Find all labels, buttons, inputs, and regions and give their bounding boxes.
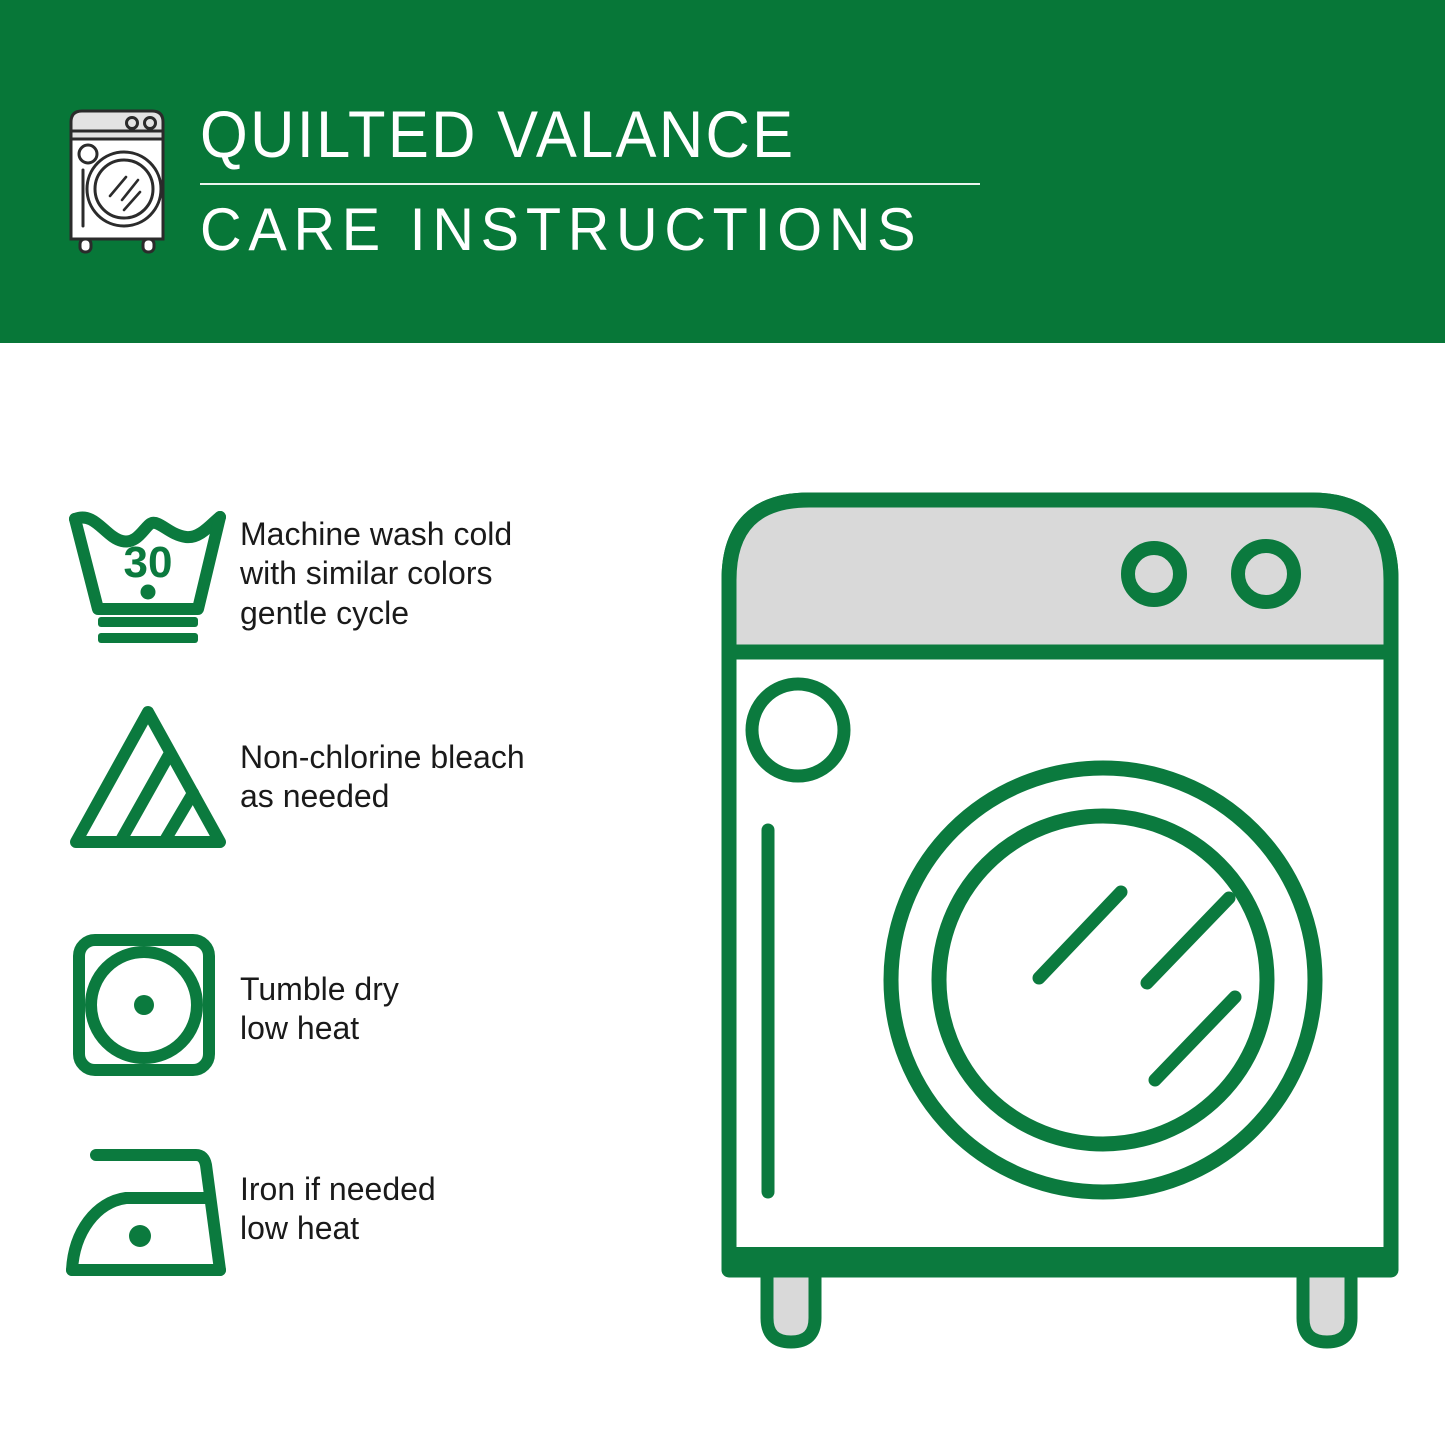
front-load-washing-machine-illustration [715, 480, 1405, 1370]
care-instruction-text: Iron if needed low heat [240, 1140, 680, 1249]
tumble-dry-icon [60, 928, 240, 1078]
bleach-triangle-icon [60, 700, 240, 850]
page-subtitle: CARE INSTRUCTIONS [200, 198, 958, 261]
title-divider [200, 183, 980, 185]
iron-icon [60, 1140, 240, 1290]
care-instructions-page: QUILTED VALANCE CARE INSTRUCTIONS 30 [0, 0, 1445, 1445]
wash-temperature-label: 30 [124, 538, 173, 587]
header-text-block: QUILTED VALANCE CARE INSTRUCTIONS [200, 100, 990, 261]
care-instruction-text: Non-chlorine bleach as needed [240, 700, 680, 817]
care-instruction-row: Tumble dry low heat [60, 928, 680, 1078]
care-instruction-text: Tumble dry low heat [240, 928, 680, 1049]
care-instruction-row: Iron if needed low heat [60, 1140, 680, 1290]
washing-machine-icon [62, 104, 180, 256]
wash-tub-30-icon: 30 [60, 497, 240, 647]
care-instruction-row: Non-chlorine bleach as needed [60, 700, 680, 850]
care-instruction-text: Machine wash cold with similar colors ge… [240, 497, 680, 633]
header-band: QUILTED VALANCE CARE INSTRUCTIONS [0, 0, 1445, 343]
care-instruction-row: 30 Machine wash cold with similar colors… [60, 497, 680, 647]
page-title: QUILTED VALANCE [200, 100, 935, 169]
